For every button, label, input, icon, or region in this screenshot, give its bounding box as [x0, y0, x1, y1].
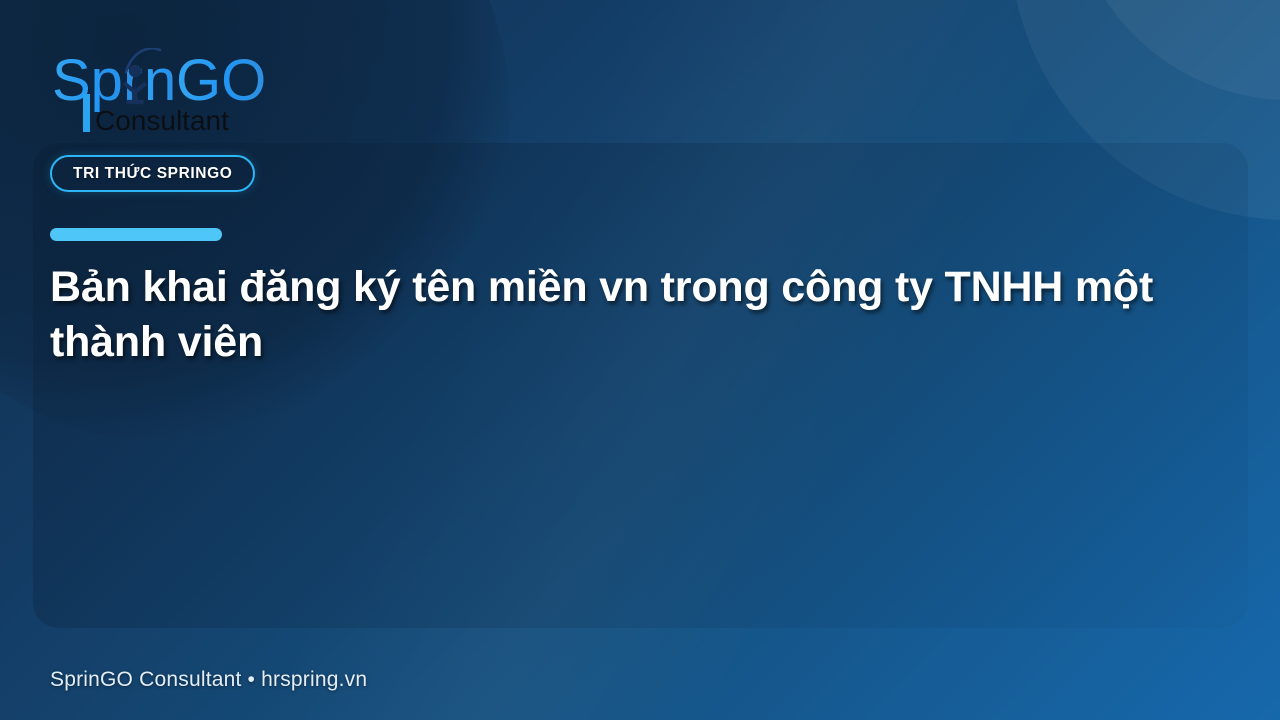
logo-subtitle: Consultant — [95, 105, 229, 136]
footer-attribution: SprinGO Consultant • hrspring.vn — [50, 668, 367, 692]
slide-canvas: Spr n GO Consultant TRI THỨC SPRINGO Bản… — [0, 0, 1280, 720]
background-arc-inner — [1070, 0, 1280, 100]
logo-wordmark-middle: n — [144, 48, 176, 113]
logo-wordmark-secondary: GO — [176, 48, 266, 113]
springo-logo: Spr n GO Consultant — [52, 48, 302, 143]
tri-thuc-springo-badge[interactable]: TRI THỨC SPRINGO — [50, 155, 255, 192]
content-card — [33, 143, 1248, 628]
logo-accent-stroke — [83, 94, 90, 132]
page-title: Bản khai đăng ký tên miền vn trong công … — [50, 260, 1210, 370]
badge-label: TRI THỨC SPRINGO — [73, 165, 232, 183]
accent-bar — [50, 228, 222, 241]
